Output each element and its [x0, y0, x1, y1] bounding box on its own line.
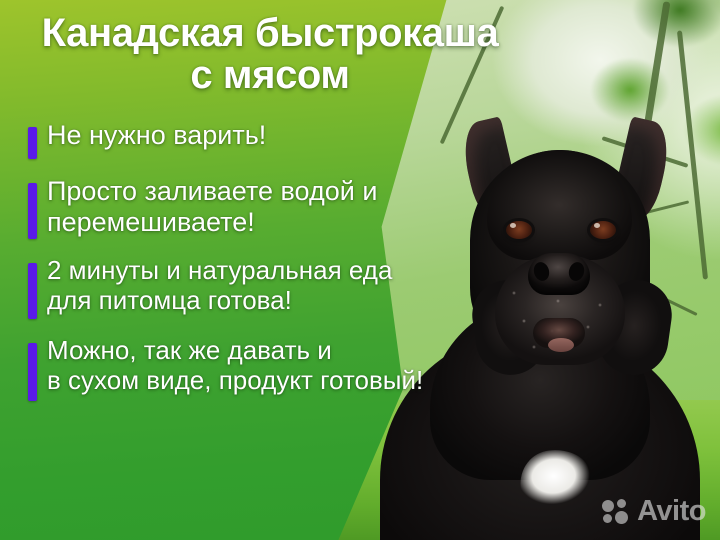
list-item: Просто заливаете водой и перемешиваете!	[28, 176, 628, 239]
avito-wordmark: Avito	[637, 497, 706, 526]
ad-title: Канадская быстрокаша с мясом	[0, 12, 540, 97]
benefits-list: Не нужно варить! Просто заливаете водой …	[28, 120, 628, 418]
avito-watermark: Avito	[602, 497, 706, 526]
bullet-marker-icon	[28, 343, 37, 401]
list-item-label: 2 минуты и натуральная еда для питомца г…	[47, 256, 392, 315]
list-item: Можно, так же давать и в сухом виде, про…	[28, 336, 628, 401]
bullet-marker-icon	[28, 127, 37, 159]
list-item-label: Не нужно варить!	[47, 120, 266, 151]
bullet-marker-icon	[28, 183, 37, 239]
bullet-marker-icon	[28, 263, 37, 319]
list-item-label: Можно, так же давать и в сухом виде, про…	[47, 336, 423, 395]
list-item-label: Просто заливаете водой и перемешиваете!	[47, 176, 377, 238]
advertisement-banner: Канадская быстрокаша с мясом Не нужно ва…	[0, 0, 720, 540]
list-item: 2 минуты и натуральная еда для питомца г…	[28, 256, 628, 319]
avito-dots-icon	[602, 499, 632, 525]
list-item: Не нужно варить!	[28, 120, 628, 159]
